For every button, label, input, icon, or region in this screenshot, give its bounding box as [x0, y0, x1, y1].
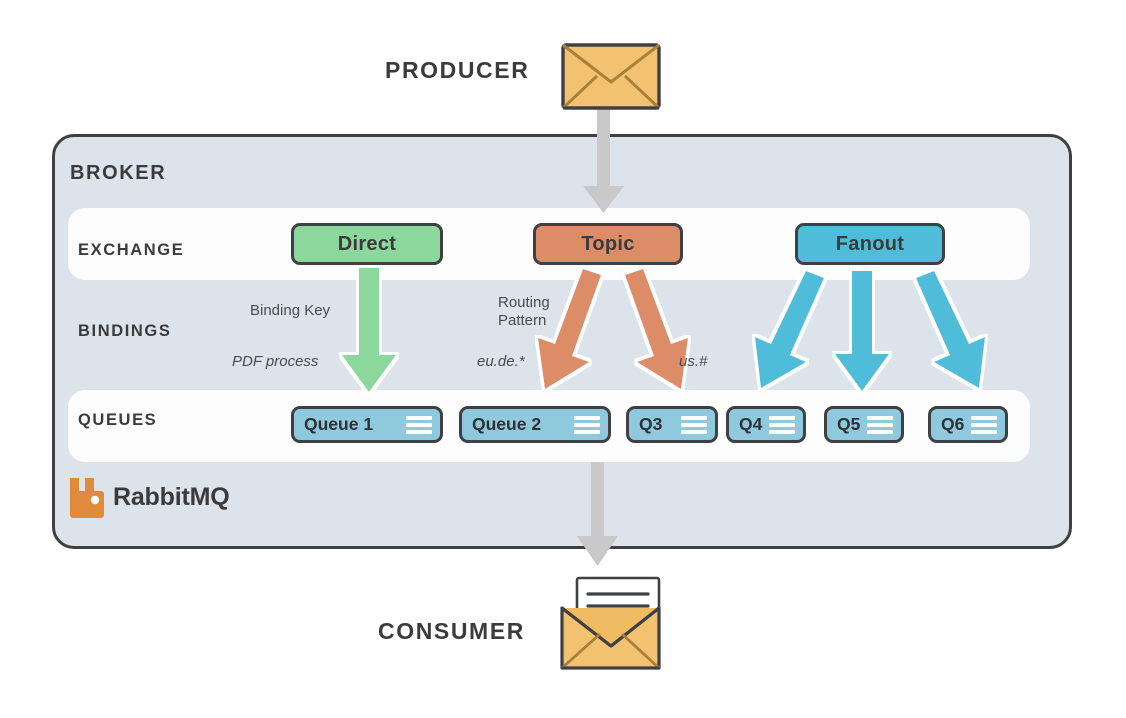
consumer-envelope-icon	[562, 578, 659, 668]
queue-label: Q4	[739, 414, 762, 435]
binding-key-value: PDF process	[232, 353, 318, 370]
routing-pattern-value-us: us.#	[679, 353, 707, 370]
diagram-canvas: PRODUCER CONSUMER BROKER EXCHANGE BINDIN…	[0, 0, 1126, 718]
queue-pill-1[interactable]: Queue 1	[291, 406, 443, 443]
queue-lines-icon	[681, 416, 707, 434]
graphics-layer	[0, 0, 1126, 718]
queues-row-label: QUEUES	[78, 411, 157, 430]
routing-pattern-value-eu: eu.de.*	[477, 353, 525, 370]
queue-label: Q5	[837, 414, 860, 435]
binding-key-title: Binding Key	[250, 302, 330, 319]
broker-label: BROKER	[70, 162, 166, 185]
exchange-topic[interactable]: Topic	[533, 223, 683, 265]
queue-pill-4[interactable]: Q4	[726, 406, 806, 443]
bindings-row-label: BINDINGS	[78, 322, 171, 341]
flow-arrow-producer-to-exchange	[583, 106, 624, 213]
queue-lines-icon	[574, 416, 600, 434]
queue-label: Q6	[941, 414, 964, 435]
queue-pill-6[interactable]: Q6	[928, 406, 1008, 443]
flow-arrow-topic-to-q3	[625, 269, 688, 389]
queue-lines-icon	[769, 416, 795, 434]
flow-arrow-fanout-to-q6	[916, 271, 985, 388]
flow-arrow-broker-to-consumer	[577, 462, 618, 566]
queue-lines-icon	[867, 416, 893, 434]
exchange-fanout[interactable]: Fanout	[795, 223, 945, 265]
producer-label: PRODUCER	[385, 57, 529, 84]
exchange-direct[interactable]: Direct	[291, 223, 443, 265]
flow-arrow-direct-to-queue1	[342, 268, 396, 392]
queue-pill-5[interactable]: Q5	[824, 406, 904, 443]
rabbitmq-wordmark: RabbitMQ	[113, 483, 229, 512]
rabbitmq-brand: RabbitMQ	[68, 477, 229, 517]
flow-arrow-fanout-to-q5	[835, 271, 889, 391]
consumer-label: CONSUMER	[378, 618, 525, 645]
queue-label: Queue 1	[304, 414, 373, 435]
queue-lines-icon	[406, 416, 432, 434]
queue-lines-icon	[971, 416, 997, 434]
routing-pattern-title: Routing Pattern	[498, 294, 550, 330]
queue-pill-2[interactable]: Queue 2	[459, 406, 611, 443]
queue-label: Q3	[639, 414, 662, 435]
exchange-row-label: EXCHANGE	[78, 241, 184, 260]
flow-arrow-fanout-to-q4	[755, 271, 824, 388]
producer-envelope-icon	[563, 45, 659, 108]
queue-pill-3[interactable]: Q3	[626, 406, 718, 443]
queue-label: Queue 2	[472, 414, 541, 435]
